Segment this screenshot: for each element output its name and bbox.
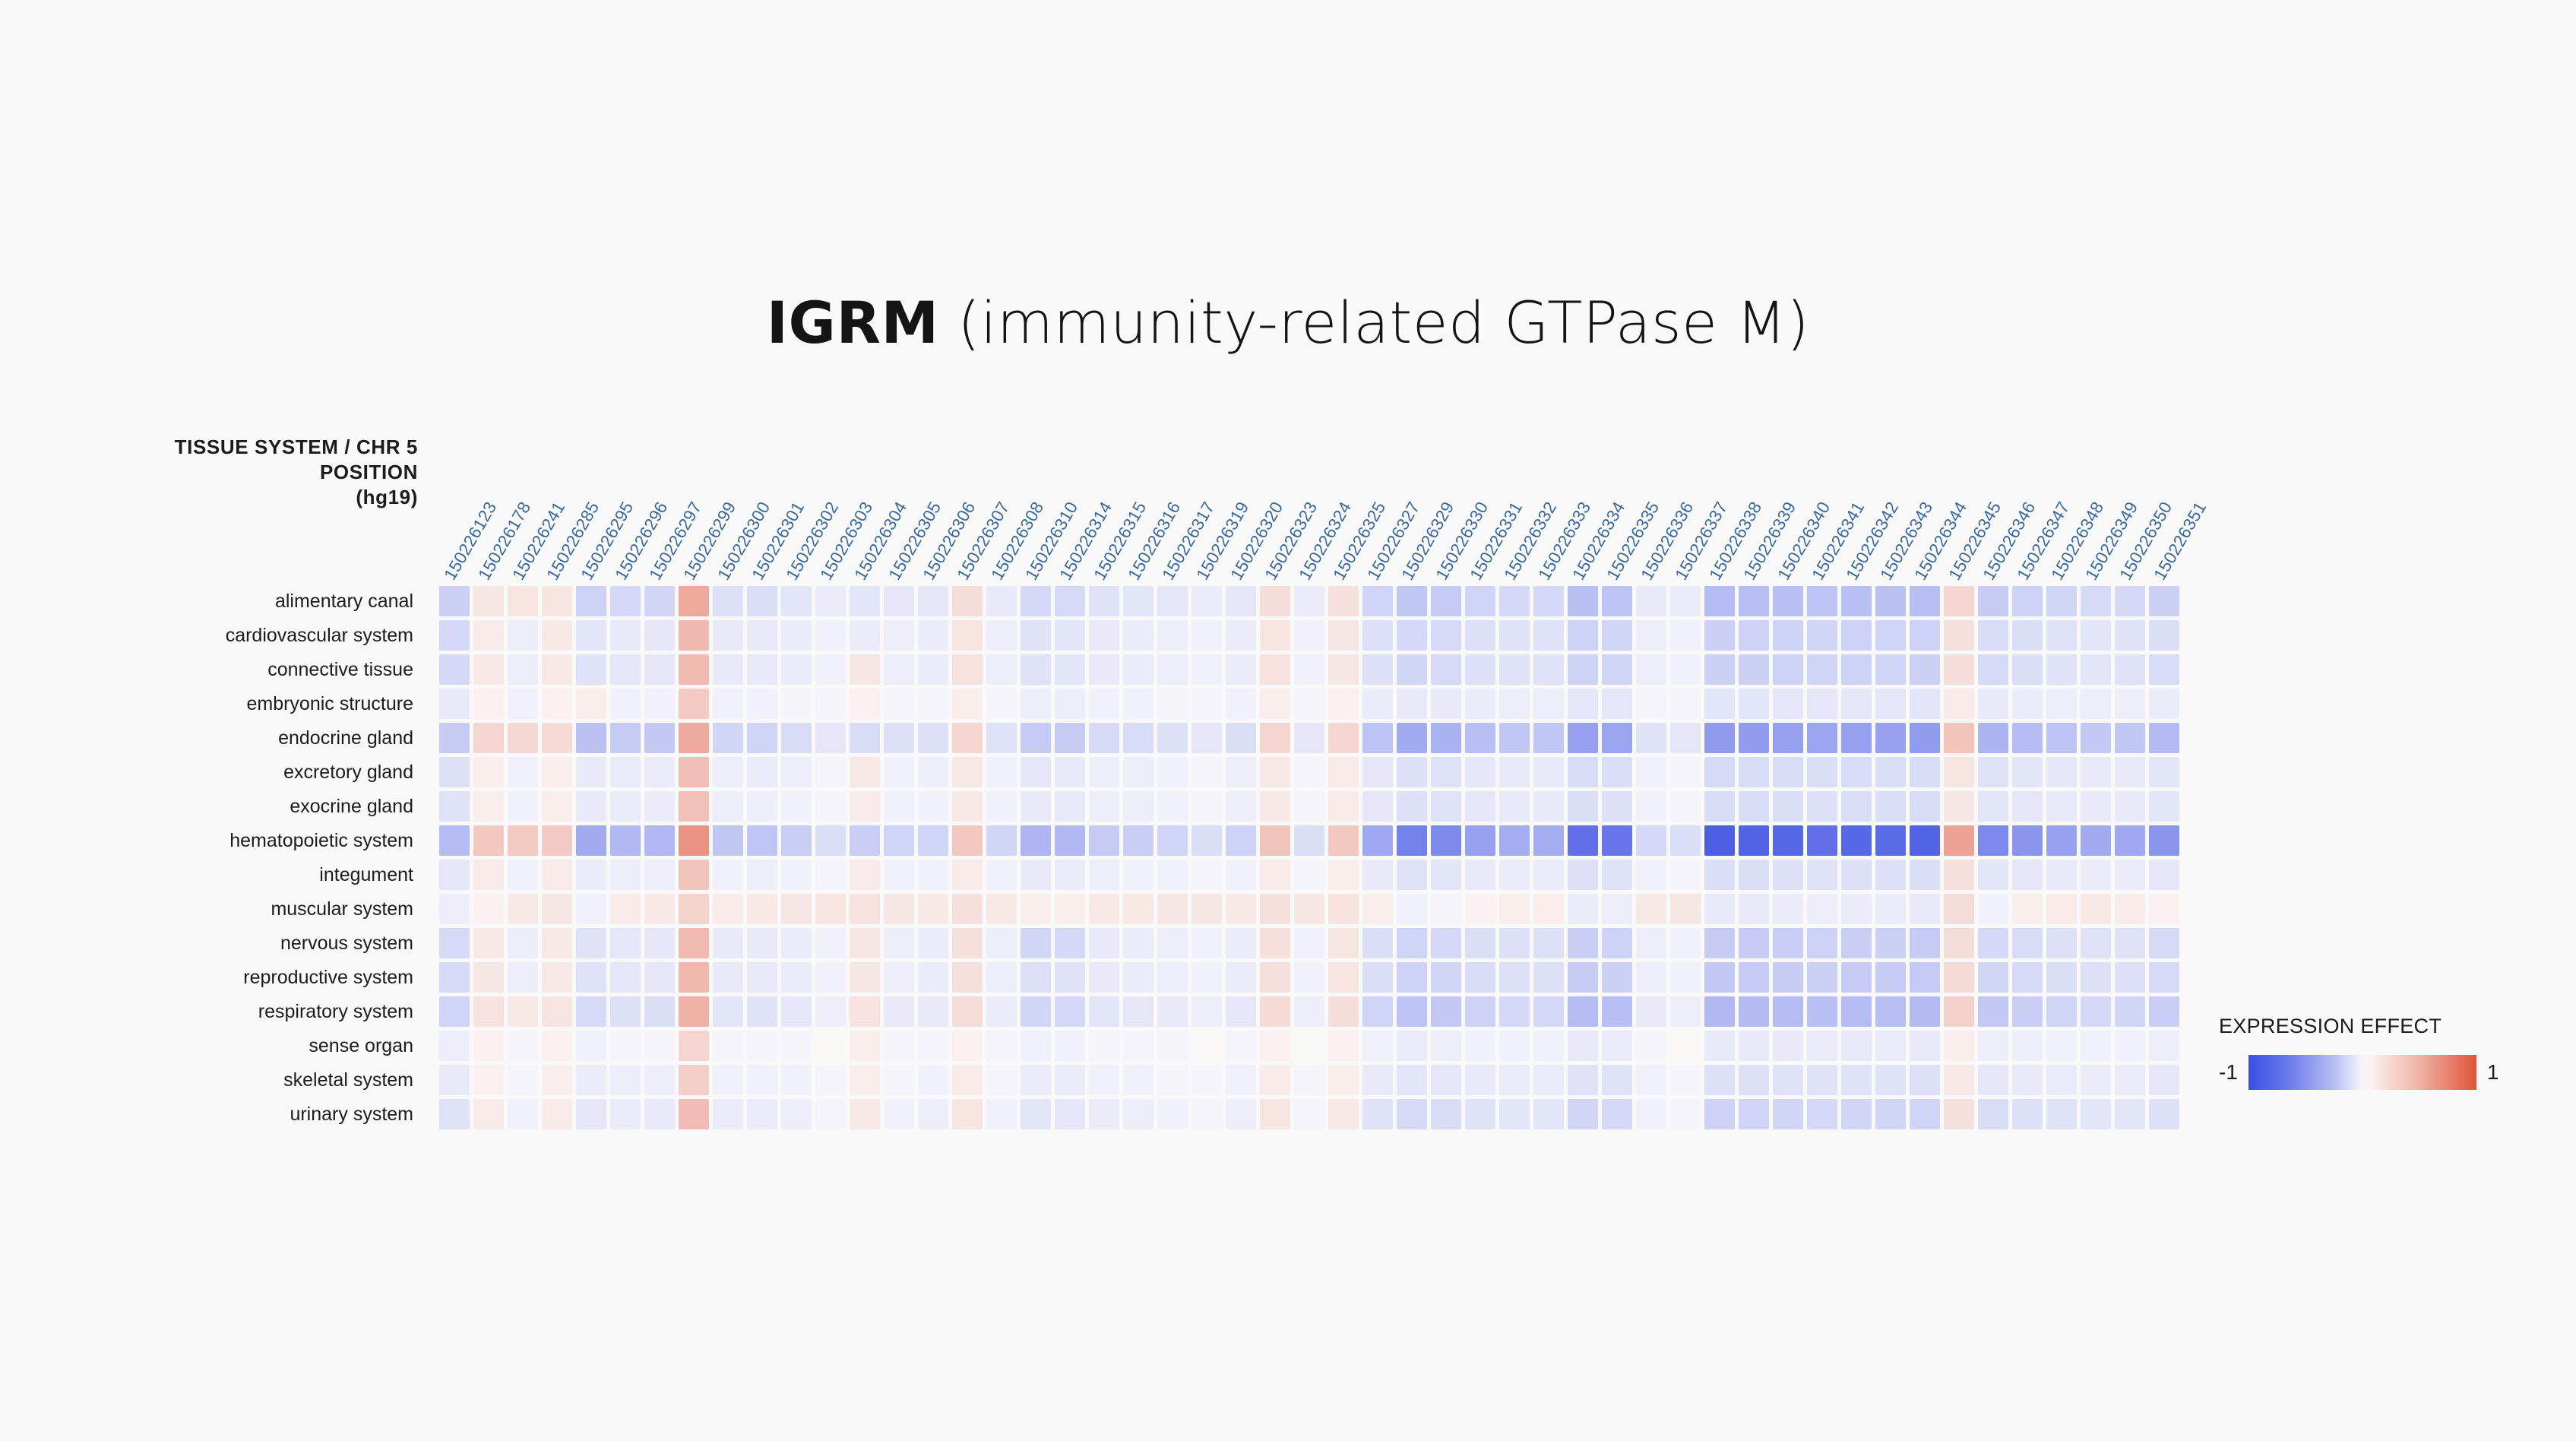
heatmap-cell[interactable] <box>1704 1031 1735 1061</box>
heatmap-cell[interactable] <box>508 586 538 616</box>
heatmap-cell[interactable] <box>1807 825 1837 856</box>
heatmap-cell[interactable] <box>439 620 470 651</box>
heatmap-cell[interactable] <box>1021 1031 1051 1061</box>
heatmap-cell[interactable] <box>1739 928 1769 958</box>
heatmap-cell[interactable] <box>1089 620 1119 651</box>
heatmap-cell[interactable] <box>952 620 983 651</box>
heatmap-cell[interactable] <box>1191 586 1222 616</box>
heatmap-cell[interactable] <box>1533 723 1564 753</box>
heatmap-cell[interactable] <box>508 654 538 685</box>
heatmap-cell[interactable] <box>1123 928 1154 958</box>
heatmap-cell[interactable] <box>1021 689 1051 719</box>
heatmap-cell[interactable] <box>1431 1099 1461 1129</box>
heatmap-cell[interactable] <box>1739 894 1769 924</box>
heatmap-cell[interactable] <box>576 620 606 651</box>
heatmap-cell[interactable] <box>1841 860 1872 890</box>
heatmap-cell[interactable] <box>1533 928 1564 958</box>
heatmap-cell[interactable] <box>610 996 641 1027</box>
heatmap-cell[interactable] <box>2149 654 2179 685</box>
heatmap-cell[interactable] <box>2012 825 2043 856</box>
heatmap-cell[interactable] <box>2081 586 2111 616</box>
heatmap-cell[interactable] <box>781 1031 812 1061</box>
heatmap-cell[interactable] <box>952 825 983 856</box>
heatmap-cell[interactable] <box>1704 928 1735 958</box>
heatmap-cell[interactable] <box>1397 1099 1427 1129</box>
heatmap-cell[interactable] <box>1294 654 1324 685</box>
heatmap-cell[interactable] <box>2012 996 2043 1027</box>
heatmap-cell[interactable] <box>1670 1031 1701 1061</box>
heatmap-cell[interactable] <box>1670 1065 1701 1095</box>
heatmap-cell[interactable] <box>2115 996 2145 1027</box>
heatmap-cell[interactable] <box>952 689 983 719</box>
heatmap-cell[interactable] <box>1431 962 1461 993</box>
heatmap-cell[interactable] <box>1397 689 1427 719</box>
heatmap-cell[interactable] <box>1055 1099 1085 1129</box>
heatmap-cell[interactable] <box>1021 654 1051 685</box>
heatmap-cell[interactable] <box>1499 689 1530 719</box>
heatmap-cell[interactable] <box>1533 1099 1564 1129</box>
heatmap-cell[interactable] <box>1157 757 1188 787</box>
heatmap-cell[interactable] <box>1191 723 1222 753</box>
heatmap-cell[interactable] <box>850 928 880 958</box>
heatmap-cell[interactable] <box>2149 620 2179 651</box>
heatmap-cell[interactable] <box>884 962 914 993</box>
heatmap-cell[interactable] <box>1431 586 1461 616</box>
heatmap-cell[interactable] <box>986 586 1017 616</box>
heatmap-cell[interactable] <box>1362 689 1393 719</box>
heatmap-cell[interactable] <box>644 962 675 993</box>
heatmap-cell[interactable] <box>2149 1099 2179 1129</box>
heatmap-cell[interactable] <box>1294 962 1324 993</box>
heatmap-cell[interactable] <box>1533 1031 1564 1061</box>
heatmap-cell[interactable] <box>2012 620 2043 651</box>
heatmap-cell[interactable] <box>542 996 572 1027</box>
heatmap-cell[interactable] <box>918 723 948 753</box>
heatmap-cell[interactable] <box>986 620 1017 651</box>
heatmap-cell[interactable] <box>2081 962 2111 993</box>
heatmap-cell[interactable] <box>2149 689 2179 719</box>
heatmap-cell[interactable] <box>2081 860 2111 890</box>
heatmap-cell[interactable] <box>1568 1065 1598 1095</box>
heatmap-cell[interactable] <box>2115 962 2145 993</box>
heatmap-cell[interactable] <box>815 860 846 890</box>
heatmap-cell[interactable] <box>1157 928 1188 958</box>
heatmap-cell[interactable] <box>1465 723 1495 753</box>
heatmap-cell[interactable] <box>1294 723 1324 753</box>
heatmap-cell[interactable] <box>1294 928 1324 958</box>
heatmap-cell[interactable] <box>1260 860 1290 890</box>
heatmap-cell[interactable] <box>508 723 538 753</box>
heatmap-cell[interactable] <box>1910 586 1940 616</box>
heatmap-cell[interactable] <box>542 928 572 958</box>
heatmap-cell[interactable] <box>1739 996 1769 1027</box>
heatmap-cell[interactable] <box>2046 996 2077 1027</box>
heatmap-cell[interactable] <box>1670 928 1701 958</box>
heatmap-cell[interactable] <box>815 723 846 753</box>
heatmap-cell[interactable] <box>747 689 777 719</box>
heatmap-cell[interactable] <box>1704 962 1735 993</box>
heatmap-cell[interactable] <box>1465 1065 1495 1095</box>
heatmap-cell[interactable] <box>713 860 743 890</box>
heatmap-cell[interactable] <box>884 860 914 890</box>
heatmap-cell[interactable] <box>713 928 743 958</box>
heatmap-cell[interactable] <box>850 825 880 856</box>
heatmap-cell[interactable] <box>1944 1099 1974 1129</box>
heatmap-cell[interactable] <box>1910 1065 1940 1095</box>
heatmap-cell[interactable] <box>1841 996 1872 1027</box>
heatmap-cell[interactable] <box>1499 996 1530 1027</box>
heatmap-cell[interactable] <box>1636 860 1666 890</box>
heatmap-cell[interactable] <box>1260 894 1290 924</box>
heatmap-cell[interactable] <box>1636 928 1666 958</box>
heatmap-cell[interactable] <box>781 1065 812 1095</box>
heatmap-cell[interactable] <box>1362 1065 1393 1095</box>
heatmap-cell[interactable] <box>2081 928 2111 958</box>
heatmap-cell[interactable] <box>1499 723 1530 753</box>
heatmap-cell[interactable] <box>1602 654 1632 685</box>
heatmap-cell[interactable] <box>1260 757 1290 787</box>
heatmap-cell[interactable] <box>1260 689 1290 719</box>
heatmap-cell[interactable] <box>2081 1099 2111 1129</box>
heatmap-cell[interactable] <box>781 689 812 719</box>
heatmap-cell[interactable] <box>644 620 675 651</box>
heatmap-cell[interactable] <box>1773 1031 1803 1061</box>
heatmap-cell[interactable] <box>986 860 1017 890</box>
heatmap-cell[interactable] <box>1191 825 1222 856</box>
heatmap-cell[interactable] <box>1089 1031 1119 1061</box>
heatmap-cell[interactable] <box>1704 1065 1735 1095</box>
heatmap-cell[interactable] <box>1431 996 1461 1027</box>
heatmap-cell[interactable] <box>1294 791 1324 822</box>
heatmap-cell[interactable] <box>473 620 504 651</box>
heatmap-cell[interactable] <box>1055 620 1085 651</box>
heatmap-cell[interactable] <box>1021 996 1051 1027</box>
heatmap-cell[interactable] <box>1191 860 1222 890</box>
heatmap-cell[interactable] <box>644 928 675 958</box>
heatmap-cell[interactable] <box>1431 654 1461 685</box>
heatmap-cell[interactable] <box>986 654 1017 685</box>
heatmap-cell[interactable] <box>2149 586 2179 616</box>
heatmap-cell[interactable] <box>1978 586 2008 616</box>
heatmap-cell[interactable] <box>439 757 470 787</box>
heatmap-cell[interactable] <box>1704 620 1735 651</box>
heatmap-cell[interactable] <box>1499 1031 1530 1061</box>
heatmap-cell[interactable] <box>1328 1031 1359 1061</box>
heatmap-cell[interactable] <box>815 791 846 822</box>
heatmap-cell[interactable] <box>2046 757 2077 787</box>
heatmap-cell[interactable] <box>781 723 812 753</box>
heatmap-cell[interactable] <box>2081 825 2111 856</box>
heatmap-cell[interactable] <box>1055 996 1085 1027</box>
heatmap-cell[interactable] <box>1191 791 1222 822</box>
heatmap-cell[interactable] <box>1260 1065 1290 1095</box>
heatmap-cell[interactable] <box>1670 791 1701 822</box>
heatmap-cell[interactable] <box>2081 620 2111 651</box>
heatmap-cell[interactable] <box>1055 654 1085 685</box>
heatmap-cell[interactable] <box>576 1099 606 1129</box>
heatmap-cell[interactable] <box>576 928 606 958</box>
heatmap-cell[interactable] <box>610 894 641 924</box>
heatmap-cell[interactable] <box>1636 962 1666 993</box>
heatmap-cell[interactable] <box>1465 962 1495 993</box>
heatmap-cell[interactable] <box>439 723 470 753</box>
heatmap-cell[interactable] <box>918 654 948 685</box>
heatmap-cell[interactable] <box>1226 1031 1256 1061</box>
heatmap-cell[interactable] <box>1910 791 1940 822</box>
heatmap-cell[interactable] <box>439 689 470 719</box>
heatmap-cell[interactable] <box>1704 757 1735 787</box>
heatmap-cell[interactable] <box>781 860 812 890</box>
heatmap-cell[interactable] <box>2046 1031 2077 1061</box>
heatmap-cell[interactable] <box>1670 620 1701 651</box>
heatmap-cell[interactable] <box>2012 894 2043 924</box>
heatmap-cell[interactable] <box>576 757 606 787</box>
heatmap-cell[interactable] <box>1260 654 1290 685</box>
heatmap-cell[interactable] <box>781 996 812 1027</box>
heatmap-cell[interactable] <box>1328 757 1359 787</box>
heatmap-cell[interactable] <box>713 825 743 856</box>
heatmap-cell[interactable] <box>1533 1065 1564 1095</box>
heatmap-cell[interactable] <box>815 757 846 787</box>
heatmap-cell[interactable] <box>1910 1099 1940 1129</box>
heatmap-cell[interactable] <box>473 928 504 958</box>
heatmap-cell[interactable] <box>1226 586 1256 616</box>
heatmap-cell[interactable] <box>747 1099 777 1129</box>
heatmap-cell[interactable] <box>679 962 709 993</box>
heatmap-cell[interactable] <box>1568 928 1598 958</box>
heatmap-cell[interactable] <box>952 586 983 616</box>
heatmap-cell[interactable] <box>1226 689 1256 719</box>
heatmap-cell[interactable] <box>1807 996 1837 1027</box>
heatmap-cell[interactable] <box>1123 723 1154 753</box>
heatmap-cell[interactable] <box>1875 654 1906 685</box>
heatmap-cell[interactable] <box>1773 1065 1803 1095</box>
heatmap-cell[interactable] <box>1773 894 1803 924</box>
heatmap-cell[interactable] <box>2081 1031 2111 1061</box>
heatmap-cell[interactable] <box>850 791 880 822</box>
heatmap-cell[interactable] <box>1328 1099 1359 1129</box>
heatmap-cell[interactable] <box>1670 962 1701 993</box>
heatmap-cell[interactable] <box>1910 860 1940 890</box>
heatmap-cell[interactable] <box>1431 791 1461 822</box>
heatmap-cell[interactable] <box>1602 620 1632 651</box>
heatmap-cell[interactable] <box>1157 620 1188 651</box>
heatmap-cell[interactable] <box>1704 654 1735 685</box>
heatmap-cell[interactable] <box>713 1099 743 1129</box>
heatmap-cell[interactable] <box>1191 654 1222 685</box>
heatmap-cell[interactable] <box>1157 894 1188 924</box>
heatmap-cell[interactable] <box>1739 860 1769 890</box>
heatmap-cell[interactable] <box>1841 894 1872 924</box>
heatmap-cell[interactable] <box>986 1099 1017 1129</box>
heatmap-cell[interactable] <box>1260 962 1290 993</box>
heatmap-cell[interactable] <box>986 928 1017 958</box>
heatmap-cell[interactable] <box>1568 586 1598 616</box>
heatmap-cell[interactable] <box>1055 825 1085 856</box>
heatmap-cell[interactable] <box>1260 791 1290 822</box>
heatmap-cell[interactable] <box>1021 825 1051 856</box>
heatmap-cell[interactable] <box>1362 894 1393 924</box>
heatmap-cell[interactable] <box>576 962 606 993</box>
heatmap-cell[interactable] <box>542 860 572 890</box>
heatmap-cell[interactable] <box>1807 757 1837 787</box>
heatmap-cell[interactable] <box>1568 825 1598 856</box>
heatmap-cell[interactable] <box>1636 1031 1666 1061</box>
heatmap-cell[interactable] <box>1362 1031 1393 1061</box>
heatmap-cell[interactable] <box>439 654 470 685</box>
heatmap-cell[interactable] <box>2012 689 2043 719</box>
heatmap-cell[interactable] <box>644 1065 675 1095</box>
heatmap-cell[interactable] <box>1739 962 1769 993</box>
heatmap-cell[interactable] <box>1431 825 1461 856</box>
heatmap-cell[interactable] <box>1123 791 1154 822</box>
heatmap-cell[interactable] <box>1260 825 1290 856</box>
heatmap-cell[interactable] <box>1157 825 1188 856</box>
heatmap-cell[interactable] <box>1226 894 1256 924</box>
heatmap-cell[interactable] <box>644 996 675 1027</box>
heatmap-cell[interactable] <box>1739 757 1769 787</box>
heatmap-cell[interactable] <box>576 825 606 856</box>
heatmap-cell[interactable] <box>1841 689 1872 719</box>
heatmap-cell[interactable] <box>2012 791 2043 822</box>
heatmap-cell[interactable] <box>1123 586 1154 616</box>
heatmap-cell[interactable] <box>1773 860 1803 890</box>
heatmap-cell[interactable] <box>1499 654 1530 685</box>
heatmap-cell[interactable] <box>1397 894 1427 924</box>
heatmap-cell[interactable] <box>1636 654 1666 685</box>
heatmap-cell[interactable] <box>1055 894 1085 924</box>
heatmap-cell[interactable] <box>1533 825 1564 856</box>
heatmap-cell[interactable] <box>713 962 743 993</box>
heatmap-cell[interactable] <box>1944 962 1974 993</box>
heatmap-cell[interactable] <box>918 894 948 924</box>
heatmap-cell[interactable] <box>1944 620 1974 651</box>
heatmap-cell[interactable] <box>850 962 880 993</box>
heatmap-cell[interactable] <box>1055 1065 1085 1095</box>
heatmap-cell[interactable] <box>1739 654 1769 685</box>
heatmap-cell[interactable] <box>1670 894 1701 924</box>
heatmap-cell[interactable] <box>1123 860 1154 890</box>
heatmap-cell[interactable] <box>1807 962 1837 993</box>
heatmap-cell[interactable] <box>2012 654 2043 685</box>
heatmap-cell[interactable] <box>1568 894 1598 924</box>
heatmap-cell[interactable] <box>1362 928 1393 958</box>
heatmap-cell[interactable] <box>747 1031 777 1061</box>
heatmap-cell[interactable] <box>1499 860 1530 890</box>
heatmap-cell[interactable] <box>542 791 572 822</box>
heatmap-cell[interactable] <box>1055 723 1085 753</box>
heatmap-cell[interactable] <box>1910 654 1940 685</box>
heatmap-cell[interactable] <box>713 1031 743 1061</box>
heatmap-cell[interactable] <box>850 1065 880 1095</box>
heatmap-cell[interactable] <box>610 825 641 856</box>
heatmap-cell[interactable] <box>1260 620 1290 651</box>
heatmap-cell[interactable] <box>1226 962 1256 993</box>
heatmap-cell[interactable] <box>747 723 777 753</box>
heatmap-cell[interactable] <box>1533 689 1564 719</box>
heatmap-cell[interactable] <box>2149 962 2179 993</box>
heatmap-cell[interactable] <box>1978 928 2008 958</box>
heatmap-cell[interactable] <box>747 860 777 890</box>
heatmap-cell[interactable] <box>473 860 504 890</box>
heatmap-cell[interactable] <box>1978 689 2008 719</box>
heatmap-cell[interactable] <box>1397 791 1427 822</box>
heatmap-cell[interactable] <box>508 928 538 958</box>
heatmap-cell[interactable] <box>2046 1065 2077 1095</box>
heatmap-cell[interactable] <box>1157 654 1188 685</box>
heatmap-cell[interactable] <box>1910 894 1940 924</box>
heatmap-cell[interactable] <box>2115 860 2145 890</box>
heatmap-cell[interactable] <box>986 996 1017 1027</box>
heatmap-cell[interactable] <box>1670 654 1701 685</box>
heatmap-cell[interactable] <box>1944 825 1974 856</box>
heatmap-cell[interactable] <box>644 723 675 753</box>
heatmap-cell[interactable] <box>1431 620 1461 651</box>
heatmap-cell[interactable] <box>713 894 743 924</box>
heatmap-cell[interactable] <box>610 928 641 958</box>
heatmap-cell[interactable] <box>1397 757 1427 787</box>
heatmap-cell[interactable] <box>952 996 983 1027</box>
heatmap-cell[interactable] <box>815 586 846 616</box>
heatmap-cell[interactable] <box>1397 586 1427 616</box>
heatmap-cell[interactable] <box>1978 894 2008 924</box>
heatmap-cell[interactable] <box>1499 757 1530 787</box>
heatmap-cell[interactable] <box>1636 689 1666 719</box>
heatmap-cell[interactable] <box>1157 962 1188 993</box>
heatmap-cell[interactable] <box>1089 860 1119 890</box>
heatmap-cell[interactable] <box>713 689 743 719</box>
heatmap-cell[interactable] <box>1978 757 2008 787</box>
heatmap-cell[interactable] <box>1602 894 1632 924</box>
heatmap-cell[interactable] <box>542 1099 572 1129</box>
heatmap-cell[interactable] <box>747 894 777 924</box>
heatmap-cell[interactable] <box>1773 791 1803 822</box>
heatmap-cell[interactable] <box>850 689 880 719</box>
heatmap-cell[interactable] <box>952 757 983 787</box>
heatmap-cell[interactable] <box>1841 757 1872 787</box>
heatmap-cell[interactable] <box>1226 825 1256 856</box>
heatmap-cell[interactable] <box>1670 723 1701 753</box>
heatmap-cell[interactable] <box>473 962 504 993</box>
heatmap-cell[interactable] <box>1602 689 1632 719</box>
heatmap-cell[interactable] <box>986 894 1017 924</box>
heatmap-cell[interactable] <box>1636 586 1666 616</box>
heatmap-cell[interactable] <box>1773 825 1803 856</box>
heatmap-cell[interactable] <box>542 1031 572 1061</box>
heatmap-cell[interactable] <box>884 1031 914 1061</box>
heatmap-cell[interactable] <box>679 1031 709 1061</box>
heatmap-cell[interactable] <box>1226 1065 1256 1095</box>
heatmap-cell[interactable] <box>1431 689 1461 719</box>
heatmap-cell[interactable] <box>1875 825 1906 856</box>
heatmap-cell[interactable] <box>2149 1065 2179 1095</box>
heatmap-cell[interactable] <box>1055 586 1085 616</box>
heatmap-cell[interactable] <box>1568 757 1598 787</box>
heatmap-cell[interactable] <box>2046 1099 2077 1129</box>
heatmap-cell[interactable] <box>1875 689 1906 719</box>
heatmap-cell[interactable] <box>1089 894 1119 924</box>
heatmap-cell[interactable] <box>508 1031 538 1061</box>
heatmap-cell[interactable] <box>1328 723 1359 753</box>
heatmap-cell[interactable] <box>2081 894 2111 924</box>
heatmap-cell[interactable] <box>1499 894 1530 924</box>
heatmap-cell[interactable] <box>1944 654 1974 685</box>
heatmap-cell[interactable] <box>850 1099 880 1129</box>
heatmap-cell[interactable] <box>1807 1065 1837 1095</box>
heatmap-cell[interactable] <box>781 928 812 958</box>
heatmap-cell[interactable] <box>610 586 641 616</box>
heatmap-cell[interactable] <box>1807 1099 1837 1129</box>
